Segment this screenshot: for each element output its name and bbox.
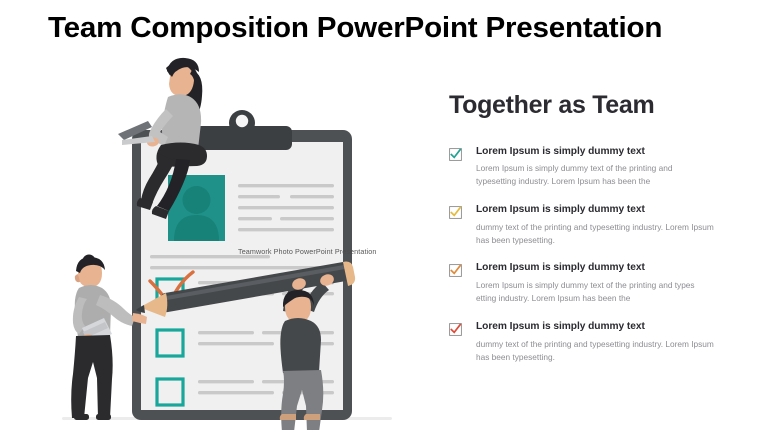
bullet-body-1: Lorem Ipsum is simply dummy text Lorem I… [476, 146, 749, 188]
bullet-item-3[interactable]: Lorem Ipsum is simply dummy text Lorem I… [449, 262, 749, 304]
bullet-title-3: Lorem Ipsum is simply dummy text [476, 262, 749, 275]
bullet-item-4[interactable]: Lorem Ipsum is simply dummy text dummy t… [449, 321, 749, 363]
bullet-item-2[interactable]: Lorem Ipsum is simply dummy text dummy t… [449, 204, 749, 246]
bullet-description-2: dummy text of the printing and typesetti… [476, 221, 714, 247]
bullet-body-2: Lorem Ipsum is simply dummy text dummy t… [476, 204, 749, 246]
checkmark-icon-3[interactable] [449, 264, 462, 277]
checkmark-icon-2[interactable] [449, 206, 462, 219]
bullet-item-1[interactable]: Lorem Ipsum is simply dummy text Lorem I… [449, 146, 749, 188]
bullet-description-4: dummy text of the printing and typesetti… [476, 338, 714, 364]
content-panel: Together as Team Lorem Ipsum is simply d… [449, 92, 749, 379]
shoe [280, 414, 296, 420]
shoe [74, 414, 89, 420]
page-title: Team Composition PowerPoint Presentation [48, 12, 752, 45]
bullet-description-3: Lorem Ipsum is simply dummy text of the … [476, 279, 714, 305]
shoe [304, 414, 320, 420]
bullet-body-3: Lorem Ipsum is simply dummy text Lorem I… [476, 262, 749, 304]
avatar-head [183, 186, 211, 214]
checkmark-icon-4[interactable] [449, 323, 462, 336]
bullet-title-1: Lorem Ipsum is simply dummy text [476, 146, 749, 159]
checkmark-icon-1[interactable] [449, 148, 462, 161]
clipboard-clip-hole [236, 115, 248, 127]
bullet-description-1: Lorem Ipsum is simply dummy text of the … [476, 162, 714, 188]
bullet-title-2: Lorem Ipsum is simply dummy text [476, 204, 749, 217]
bullet-body-4: Lorem Ipsum is simply dummy text dummy t… [476, 321, 749, 363]
shoe [96, 414, 111, 420]
bullet-title-4: Lorem Ipsum is simply dummy text [476, 321, 749, 334]
teamwork-clipboard-illustration: Teamwork Photo PowerPoint Presentation [40, 45, 420, 430]
section-heading: Together as Team [449, 92, 749, 120]
resume-header [168, 175, 334, 241]
